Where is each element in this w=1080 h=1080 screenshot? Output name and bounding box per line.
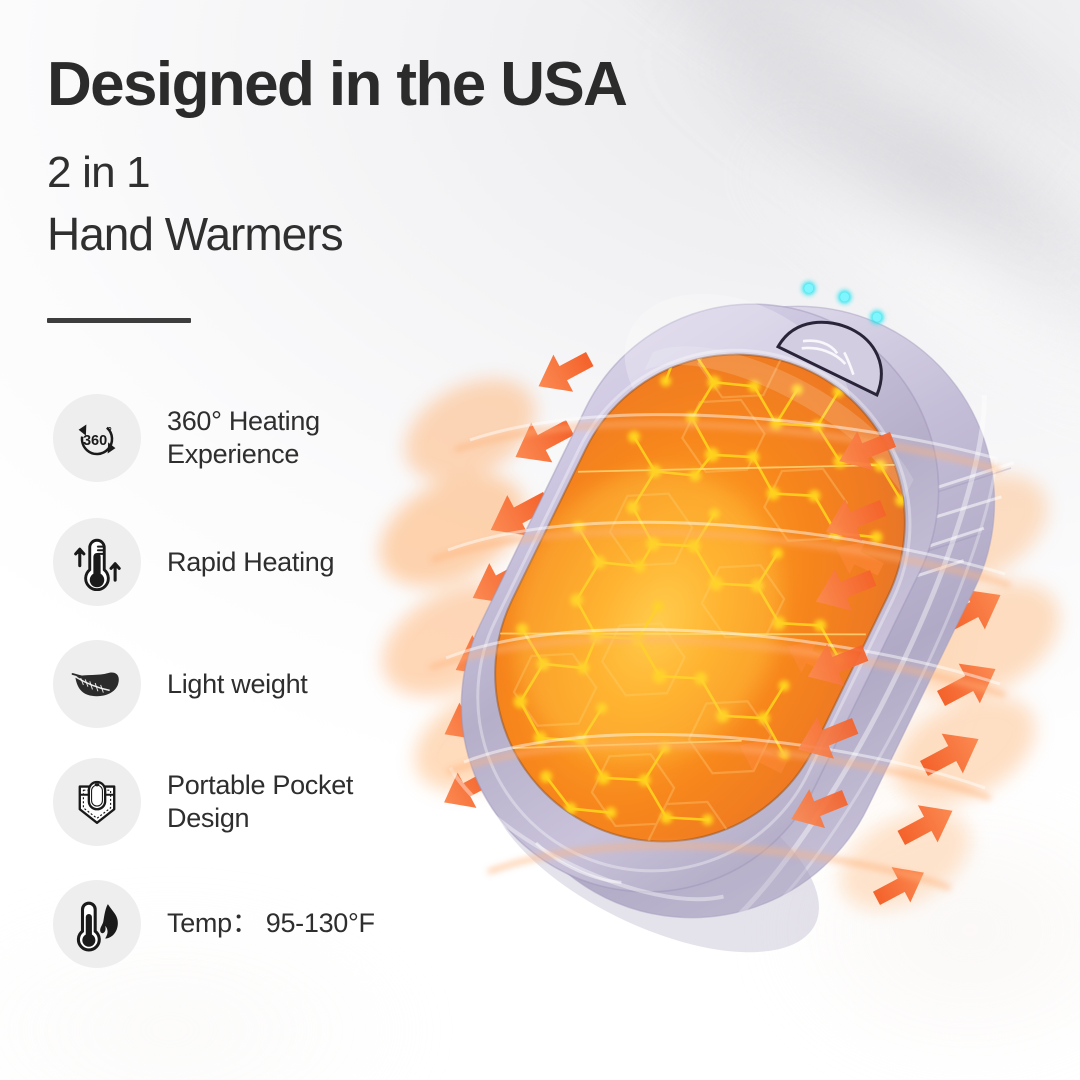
feature-item-rapid-heating: Rapid Heating bbox=[53, 518, 334, 606]
feature-label: 360° Heating Experience bbox=[167, 405, 320, 471]
feature-item-portable-pocket: Portable Pocket Design bbox=[53, 758, 353, 846]
subtitle-line-1: 2 in 1 bbox=[47, 151, 817, 195]
feature-icon-badge bbox=[53, 518, 141, 606]
rotation-degree: ° bbox=[107, 426, 111, 438]
feature-icon-badge: 360 ° bbox=[53, 394, 141, 482]
subtitle-line-2: Hand Warmers bbox=[47, 211, 817, 257]
feature-label: Temp： 95-130°F bbox=[167, 908, 375, 940]
feather-icon bbox=[68, 655, 126, 713]
feature-label: Rapid Heating bbox=[167, 546, 334, 579]
feature-icon-badge bbox=[53, 758, 141, 846]
page-title: Designed in the USA bbox=[47, 52, 817, 117]
feature-item-360-heating: 360 ° 360° Heating Experience bbox=[53, 394, 320, 482]
headline-block: Designed in the USA 2 in 1 Hand Warmers bbox=[47, 52, 817, 257]
feature-icon-badge bbox=[53, 880, 141, 968]
feature-icon-badge bbox=[53, 640, 141, 728]
360-rotation-icon: 360 ° bbox=[66, 407, 128, 469]
feature-item-temperature: Temp： 95-130°F bbox=[53, 880, 375, 968]
feature-label: Light weight bbox=[167, 668, 308, 701]
thermometer-up-icon bbox=[68, 533, 126, 591]
title-divider bbox=[47, 318, 191, 323]
product-marketing-banner: Designed in the USA 2 in 1 Hand Warmers … bbox=[0, 0, 1080, 1080]
rotation-value: 360 bbox=[83, 433, 107, 449]
thermometer-flame-icon bbox=[68, 895, 126, 953]
feature-item-light-weight: Light weight bbox=[53, 640, 308, 728]
pocket-icon bbox=[68, 773, 126, 831]
feature-label: Portable Pocket Design bbox=[167, 769, 353, 835]
